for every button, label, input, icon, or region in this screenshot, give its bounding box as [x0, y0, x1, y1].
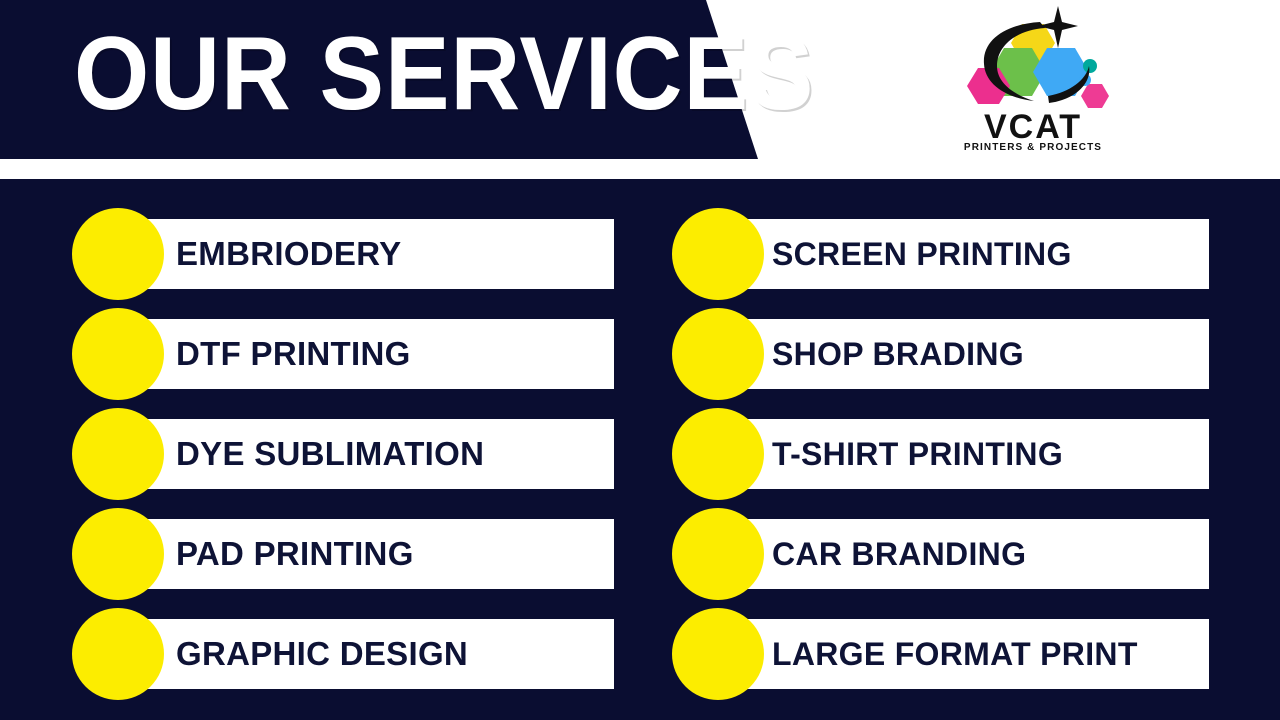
services-body: EMBRIODERYDTF PRINTINGDYE SUBLIMATIONPAD… [0, 179, 1280, 720]
service-item-right-label: T-SHIRT PRINTING [772, 436, 1063, 472]
service-bullet-icon [72, 308, 164, 400]
service-bullet-icon [72, 208, 164, 300]
service-item-left-label: PAD PRINTING [176, 536, 414, 572]
service-item-right-bar: CAR BRANDING [718, 519, 1209, 589]
service-item-right-row[interactable]: T-SHIRT PRINTING [672, 408, 1209, 500]
service-bullet-icon [672, 308, 764, 400]
service-item-right-bar: LARGE FORMAT PRINT [718, 619, 1209, 689]
service-item-left-row[interactable]: DYE SUBLIMATION [72, 408, 614, 500]
service-item-left-row[interactable]: DTF PRINTING [72, 308, 614, 400]
service-bullet-icon [672, 508, 764, 600]
logo-mark-icon [948, 6, 1118, 118]
service-item-left-row[interactable]: GRAPHIC DESIGN [72, 608, 614, 700]
service-item-right-bar: SHOP BRADING [718, 319, 1209, 389]
service-item-left-bar: GRAPHIC DESIGN [118, 619, 614, 689]
header-band: OUR SERVICES [0, 0, 1280, 159]
service-item-left-row[interactable]: PAD PRINTING [72, 508, 614, 600]
service-bullet-icon [72, 608, 164, 700]
service-item-left-bar: PAD PRINTING [118, 519, 614, 589]
service-item-right-label: LARGE FORMAT PRINT [772, 636, 1138, 672]
service-item-left-label: GRAPHIC DESIGN [176, 636, 468, 672]
service-item-right-bar: SCREEN PRINTING [718, 219, 1209, 289]
service-item-left-bar: DYE SUBLIMATION [118, 419, 614, 489]
service-item-right-row[interactable]: SCREEN PRINTING [672, 208, 1209, 300]
service-item-right-label: SHOP BRADING [772, 336, 1024, 372]
service-bullet-icon [672, 208, 764, 300]
service-item-right-row[interactable]: LARGE FORMAT PRINT [672, 608, 1209, 700]
header-separator [0, 159, 1280, 179]
service-item-left-label: DTF PRINTING [176, 336, 411, 372]
service-bullet-icon [672, 408, 764, 500]
service-item-right-label: CAR BRANDING [772, 536, 1026, 572]
logo-wordmark: VCAT [948, 110, 1118, 144]
service-item-left-label: EMBRIODERY [176, 236, 401, 272]
service-item-right-bar: T-SHIRT PRINTING [718, 419, 1209, 489]
service-item-right-label: SCREEN PRINTING [772, 236, 1072, 272]
services-poster: OUR SERVICES [0, 0, 1280, 720]
logo-dot-teal [1083, 59, 1097, 73]
service-item-left-row[interactable]: EMBRIODERY [72, 208, 614, 300]
service-item-left-bar: DTF PRINTING [118, 319, 614, 389]
service-bullet-icon [72, 408, 164, 500]
page-title: OUR SERVICES [74, 22, 814, 126]
logo-hexagon-magenta [1081, 84, 1109, 108]
service-item-right-row[interactable]: SHOP BRADING [672, 308, 1209, 400]
service-bullet-icon [72, 508, 164, 600]
logo-tagline: PRINTERS & PROJECTS [948, 142, 1118, 153]
service-item-left-label: DYE SUBLIMATION [176, 436, 484, 472]
service-item-right-row[interactable]: CAR BRANDING [672, 508, 1209, 600]
service-bullet-icon [672, 608, 764, 700]
service-item-left-bar: EMBRIODERY [118, 219, 614, 289]
company-logo: VCAT PRINTERS & PROJECTS [948, 6, 1118, 156]
